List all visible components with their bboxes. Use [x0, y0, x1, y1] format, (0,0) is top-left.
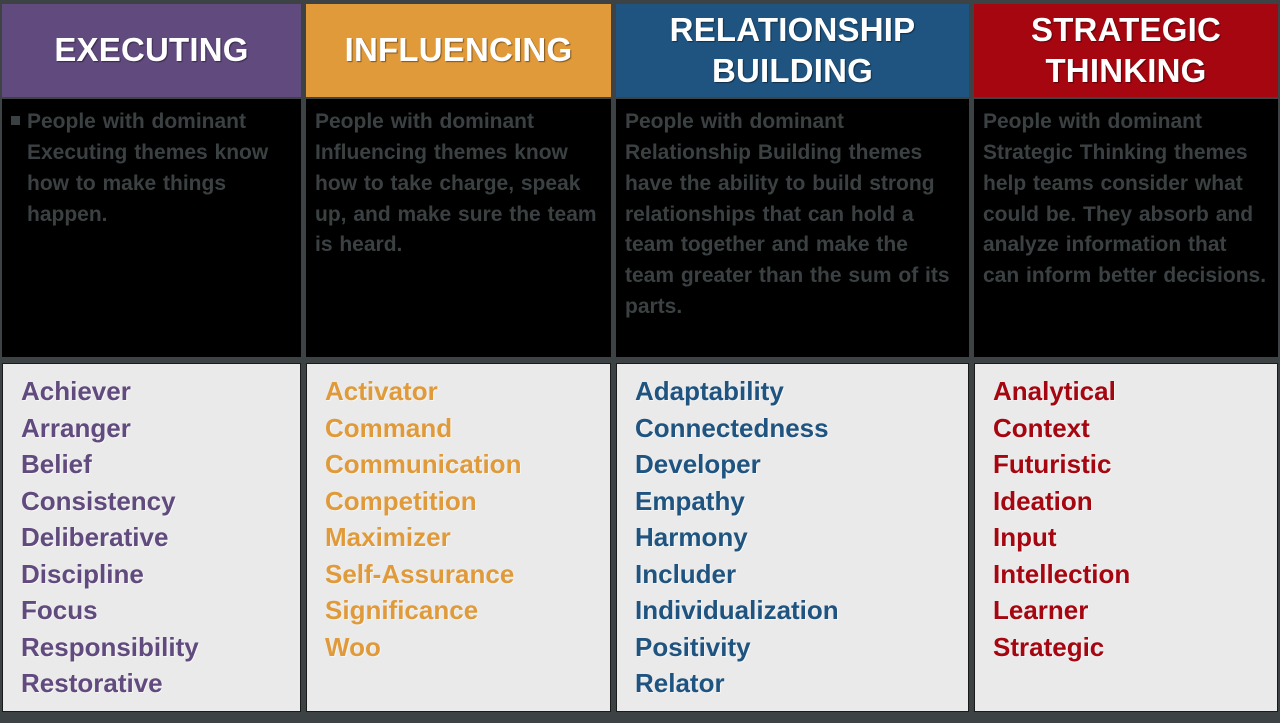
domain-header-influencing: INFLUENCING: [306, 4, 611, 97]
domain-header-relationship-building: RELATIONSHIP BUILDING: [616, 4, 969, 97]
domain-description-executing: People with dominant Executing themes kn…: [2, 99, 301, 357]
theme-item[interactable]: Responsibility: [21, 629, 300, 666]
theme-item[interactable]: Maximizer: [325, 519, 610, 556]
theme-item[interactable]: Self-Assurance: [325, 556, 610, 593]
theme-item[interactable]: Context: [993, 410, 1277, 447]
theme-item[interactable]: Empathy: [635, 483, 968, 520]
theme-item[interactable]: Relator: [635, 665, 968, 702]
domain-description-strategic-thinking: People with dominant Strategic Thinking …: [974, 99, 1278, 357]
theme-item[interactable]: Harmony: [635, 519, 968, 556]
bullet-icon: [11, 116, 20, 125]
domain-description-influencing: People with dominant Influencing themes …: [306, 99, 611, 357]
theme-item[interactable]: Command: [325, 410, 610, 447]
theme-item[interactable]: Discipline: [21, 556, 300, 593]
theme-item[interactable]: Strategic: [993, 629, 1277, 666]
theme-list-strategic-thinking: AnalyticalContextFuturisticIdeationInput…: [974, 363, 1278, 712]
strengths-domain-chart: EXECUTING INFLUENCING RELATIONSHIP BUILD…: [0, 0, 1280, 723]
theme-item[interactable]: Ideation: [993, 483, 1277, 520]
theme-item[interactable]: Intellection: [993, 556, 1277, 593]
domain-description-text: People with dominant Strategic Thinking …: [983, 107, 1269, 292]
theme-item[interactable]: Restorative: [21, 665, 300, 702]
domain-description-relationship-building: People with dominant Relationship Buildi…: [616, 99, 969, 357]
domain-description-text: People with dominant Relationship Buildi…: [625, 107, 960, 323]
theme-item[interactable]: Adaptability: [635, 373, 968, 410]
theme-item[interactable]: Arranger: [21, 410, 300, 447]
domain-header-executing: EXECUTING: [2, 4, 301, 97]
theme-item[interactable]: Communication: [325, 446, 610, 483]
theme-list-influencing: ActivatorCommandCommunicationCompetition…: [306, 363, 611, 712]
theme-item[interactable]: Focus: [21, 592, 300, 629]
theme-item[interactable]: Developer: [635, 446, 968, 483]
domain-header-strategic-thinking: STRATEGIC THINKING: [974, 4, 1278, 97]
theme-item[interactable]: Deliberative: [21, 519, 300, 556]
theme-item[interactable]: Competition: [325, 483, 610, 520]
theme-item[interactable]: Consistency: [21, 483, 300, 520]
theme-item[interactable]: Input: [993, 519, 1277, 556]
theme-item[interactable]: Achiever: [21, 373, 300, 410]
theme-item[interactable]: Activator: [325, 373, 610, 410]
theme-item[interactable]: Connectedness: [635, 410, 968, 447]
theme-list-executing: AchieverArrangerBeliefConsistencyDeliber…: [2, 363, 301, 712]
theme-item[interactable]: Belief: [21, 446, 300, 483]
theme-item[interactable]: Analytical: [993, 373, 1277, 410]
theme-list-relationship-building: AdaptabilityConnectednessDeveloperEmpath…: [616, 363, 969, 712]
theme-item[interactable]: Includer: [635, 556, 968, 593]
domain-description-text: People with dominant Executing themes kn…: [11, 107, 292, 230]
theme-item[interactable]: Futuristic: [993, 446, 1277, 483]
domain-themes-row: AchieverArrangerBeliefConsistencyDeliber…: [0, 357, 1280, 723]
domain-description-row: People with dominant Executing themes kn…: [0, 99, 1280, 357]
domain-description-text: People with dominant Influencing themes …: [315, 107, 602, 261]
theme-item[interactable]: Learner: [993, 592, 1277, 629]
theme-item[interactable]: Positivity: [635, 629, 968, 666]
theme-item[interactable]: Woo: [325, 629, 610, 666]
theme-item[interactable]: Significance: [325, 592, 610, 629]
theme-item[interactable]: Individualization: [635, 592, 968, 629]
domain-header-row: EXECUTING INFLUENCING RELATIONSHIP BUILD…: [0, 0, 1280, 99]
